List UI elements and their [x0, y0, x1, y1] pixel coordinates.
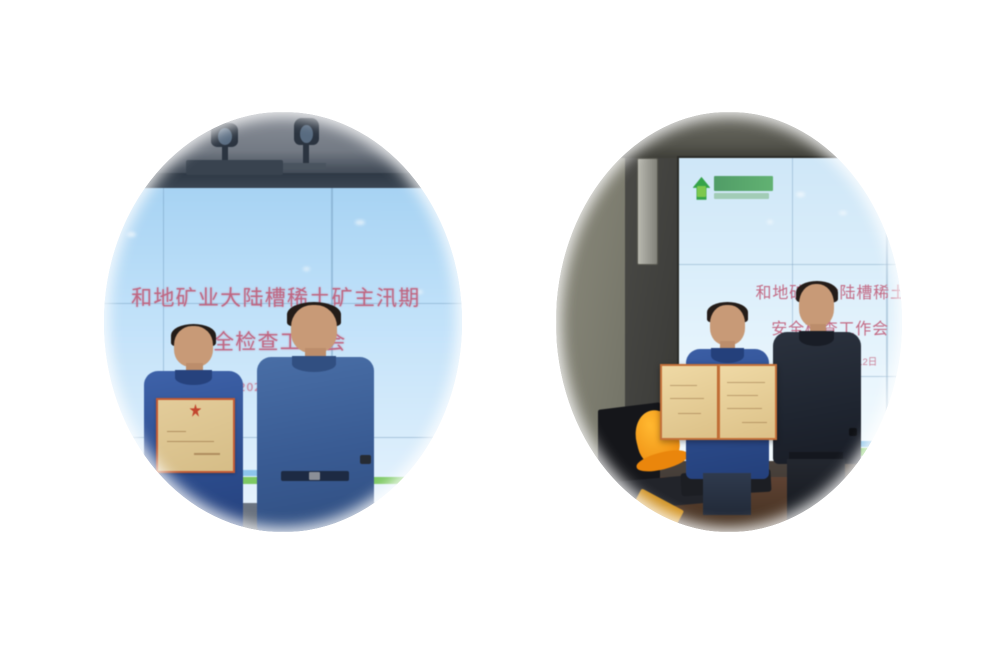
right-photo-scene: 和地矿业大陆槽稀土矿 安全检查工作会 2025年8月12日: [556, 112, 902, 532]
logo-wordmark: [714, 176, 772, 191]
logo-subtext: [714, 193, 769, 199]
photo-left[interactable]: 和地矿业大陆槽稀土矿主汛期 安全检查工作会 2025年8月12日: [104, 112, 462, 532]
award-certificate: [156, 398, 235, 473]
head: [174, 326, 213, 367]
photo-right[interactable]: 和地矿业大陆槽稀土矿 安全检查工作会 2025年8月12日: [556, 112, 902, 532]
wristwatch-icon: [360, 455, 371, 464]
conference-camera-right-icon: [294, 118, 319, 164]
legs: [787, 459, 845, 524]
booklet-page-right: [718, 364, 777, 440]
head: [799, 284, 834, 327]
company-logo: [693, 175, 774, 203]
head: [710, 305, 745, 345]
ceiling-beam: [611, 112, 902, 158]
camera-cable: [283, 163, 326, 169]
camera-base: [186, 160, 283, 175]
conference-camera-left-icon: [211, 123, 238, 165]
certificate-booklet: [660, 364, 778, 440]
head: [291, 305, 337, 353]
certificate-emblem-icon: [189, 404, 201, 417]
left-photo-person-b: [254, 305, 376, 532]
legs: [703, 473, 751, 515]
mountain-logo-inner-icon: [697, 186, 706, 197]
right-photo-person-b: [771, 284, 864, 523]
collage-canvas: 和地矿业大陆槽稀土矿主汛期 安全检查工作会 2025年8月12日: [0, 0, 1000, 667]
collar: [711, 348, 744, 363]
collar: [292, 356, 336, 372]
wall-speaker-icon: [637, 158, 658, 265]
torso: [257, 357, 374, 532]
wristwatch-icon: [849, 428, 857, 437]
ceiling-sensor-icon: [829, 135, 853, 144]
collar: [175, 370, 212, 384]
torso: [773, 332, 861, 464]
left-photo-scene: 和地矿业大陆槽稀土矿主汛期 安全检查工作会 2025年8月12日: [104, 112, 462, 532]
booklet-page-left: [660, 364, 718, 440]
belt-buckle: [309, 472, 320, 480]
